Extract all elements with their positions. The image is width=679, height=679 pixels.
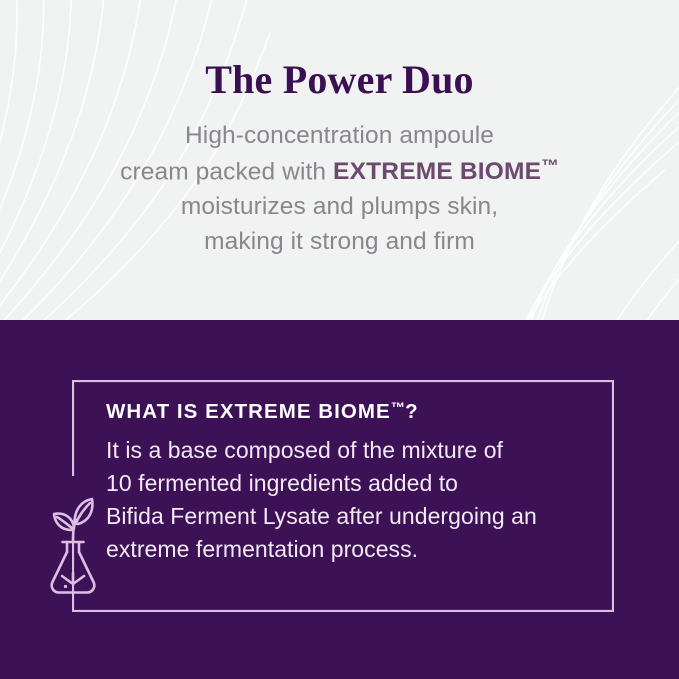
card-heading-text: WHAT IS EXTREME BIOME <box>106 400 391 423</box>
card-heading-suffix: ? <box>405 400 419 423</box>
top-hero-panel: The Power Duo High-concentration ampoule… <box>0 0 679 320</box>
page-title: The Power Duo <box>205 58 474 102</box>
card-body-line-3: Bifida Ferment Lysate after undergoing a… <box>106 500 604 533</box>
bottom-info-panel: WHAT IS EXTREME BIOME™? It is a base com… <box>0 320 679 679</box>
page-subtitle: High-concentration ampoule cream packed … <box>120 119 559 260</box>
flask-sprout-shape <box>45 490 101 600</box>
brand-name-text: EXTREME BIOME <box>333 158 541 185</box>
what-is-extreme-biome-card: WHAT IS EXTREME BIOME™? It is a base com… <box>72 380 614 612</box>
card-heading: WHAT IS EXTREME BIOME™? <box>106 400 604 425</box>
subtitle-line-4: making it strong and firm <box>204 228 475 255</box>
card-body-line-1: It is a base composed of the mixture of <box>106 434 604 467</box>
trademark-symbol: ™ <box>541 156 559 176</box>
card-body-line-2: 10 fermented ingredients added to <box>106 467 604 500</box>
card-text-block: WHAT IS EXTREME BIOME™? It is a base com… <box>106 400 604 566</box>
card-heading-trademark-symbol: ™ <box>391 400 405 416</box>
subtitle-line-1: High-concentration ampoule <box>185 122 494 149</box>
card-body-line-4: extreme fermentation process. <box>106 533 604 566</box>
brand-name-extreme-biome: EXTREME BIOME™ <box>333 158 559 185</box>
flask-sprout-icon <box>45 490 101 600</box>
card-body: It is a base composed of the mixture of … <box>106 434 604 566</box>
subtitle-line-3: moisturizes and plumps skin, <box>181 193 498 220</box>
top-text-block: The Power Duo High-concentration ampoule… <box>0 0 679 320</box>
product-infographic: The Power Duo High-concentration ampoule… <box>0 0 679 679</box>
subtitle-line-2-prefix: cream packed with <box>120 158 333 185</box>
